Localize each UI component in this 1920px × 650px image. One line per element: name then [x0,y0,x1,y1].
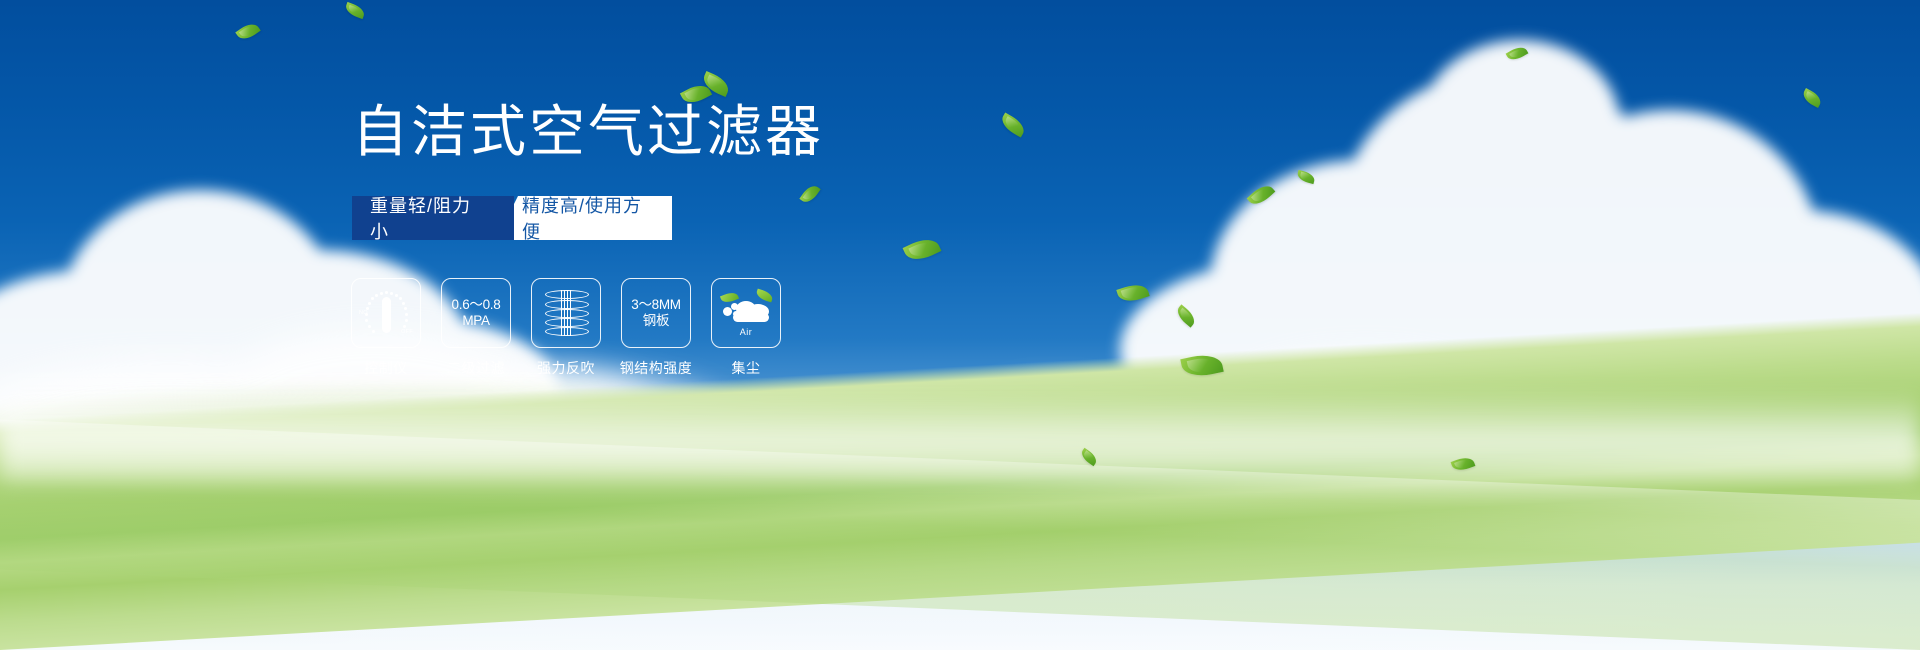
feature-label: 强力反吹 [537,358,595,378]
hero-banner: 自洁式空气过滤器 重量轻/阻力小 精度高/使用方便 NO OFF [0,0,1920,650]
steel-thickness-text: 3～8MM [631,297,681,313]
steel-plate-text: 钢板 [643,313,669,329]
feature-item-dust-collection[interactable]: Air 集尘 [712,278,780,378]
feature-item-controller[interactable]: NO OFF [352,278,420,378]
feature-box: 0.6～0.8 MPA [441,278,511,348]
tab-weight-resistance[interactable]: 重量轻/阻力小 [352,196,514,240]
feature-list: NO OFF [352,278,1112,378]
feature-box [531,278,601,348]
feature-tabs: 重量轻/阻力小 精度高/使用方便 [352,196,672,240]
feature-box: Air [711,278,781,348]
feature-label: 二级过滤 [447,358,505,378]
tab-precision-convenience[interactable]: 精度高/使用方便 [496,196,672,240]
gauge-icon: NO OFF [360,288,412,338]
pressure-range-text: 0.6～0.8 [452,297,501,313]
title-leaf-decoration [682,76,742,112]
feature-label: 集尘 [732,358,761,378]
feature-box: NO OFF [351,278,421,348]
pressure-unit-text: MPA [462,313,489,329]
feature-label: 控制仪 [364,358,408,378]
horizon-haze [0,390,1920,480]
feature-item-blowback[interactable]: 强力反吹 [532,278,600,378]
gauge-off-label: OFF [401,329,413,335]
dust-cloud-icon: Air [719,291,773,335]
feature-item-secondary-filter[interactable]: 0.6～0.8 MPA 二级过滤 [442,278,510,378]
air-caption: Air [719,327,773,337]
feature-item-steel-strength[interactable]: 3～8MM 钢板 钢结构强度 [622,278,690,378]
banner-content: 自洁式空气过滤器 重量轻/阻力小 精度高/使用方便 NO OFF [352,104,1112,378]
feature-label: 钢结构强度 [620,358,693,378]
blowback-filter-icon [543,288,589,338]
banner-title: 自洁式空气过滤器 [352,104,1112,160]
feature-box: 3～8MM 钢板 [621,278,691,348]
